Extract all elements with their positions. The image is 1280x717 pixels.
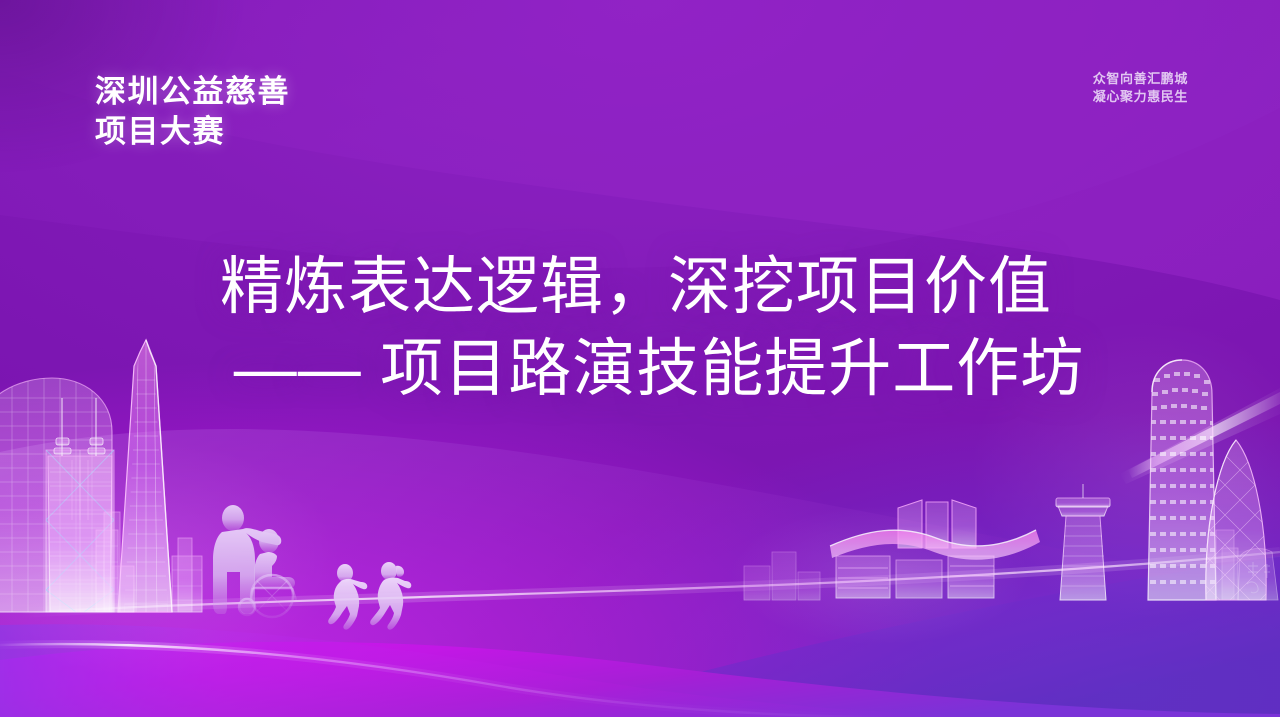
event-logo: 深圳公益慈善 项目大赛: [95, 72, 290, 152]
title-line-2: —— 项目路演技能提升工作坊: [0, 328, 1272, 410]
title-line-1: 精炼表达逻辑，深挖项目价值: [0, 246, 1272, 328]
event-slogan: 众智向善汇鹏城 凝心聚力惠民生: [1093, 70, 1188, 106]
logo-line-2: 项目大赛: [95, 112, 290, 152]
poster-canvas: 深圳公益慈善 项目大赛 众智向善汇鹏城 凝心聚力惠民生 精炼表达逻辑，深挖项目价…: [0, 0, 1280, 717]
slogan-line-2: 凝心聚力惠民生: [1093, 88, 1188, 106]
logo-line-1: 深圳公益慈善: [95, 72, 290, 112]
main-title: 精炼表达逻辑，深挖项目价值 —— 项目路演技能提升工作坊: [0, 246, 1280, 410]
slogan-line-1: 众智向善汇鹏城: [1093, 70, 1188, 88]
